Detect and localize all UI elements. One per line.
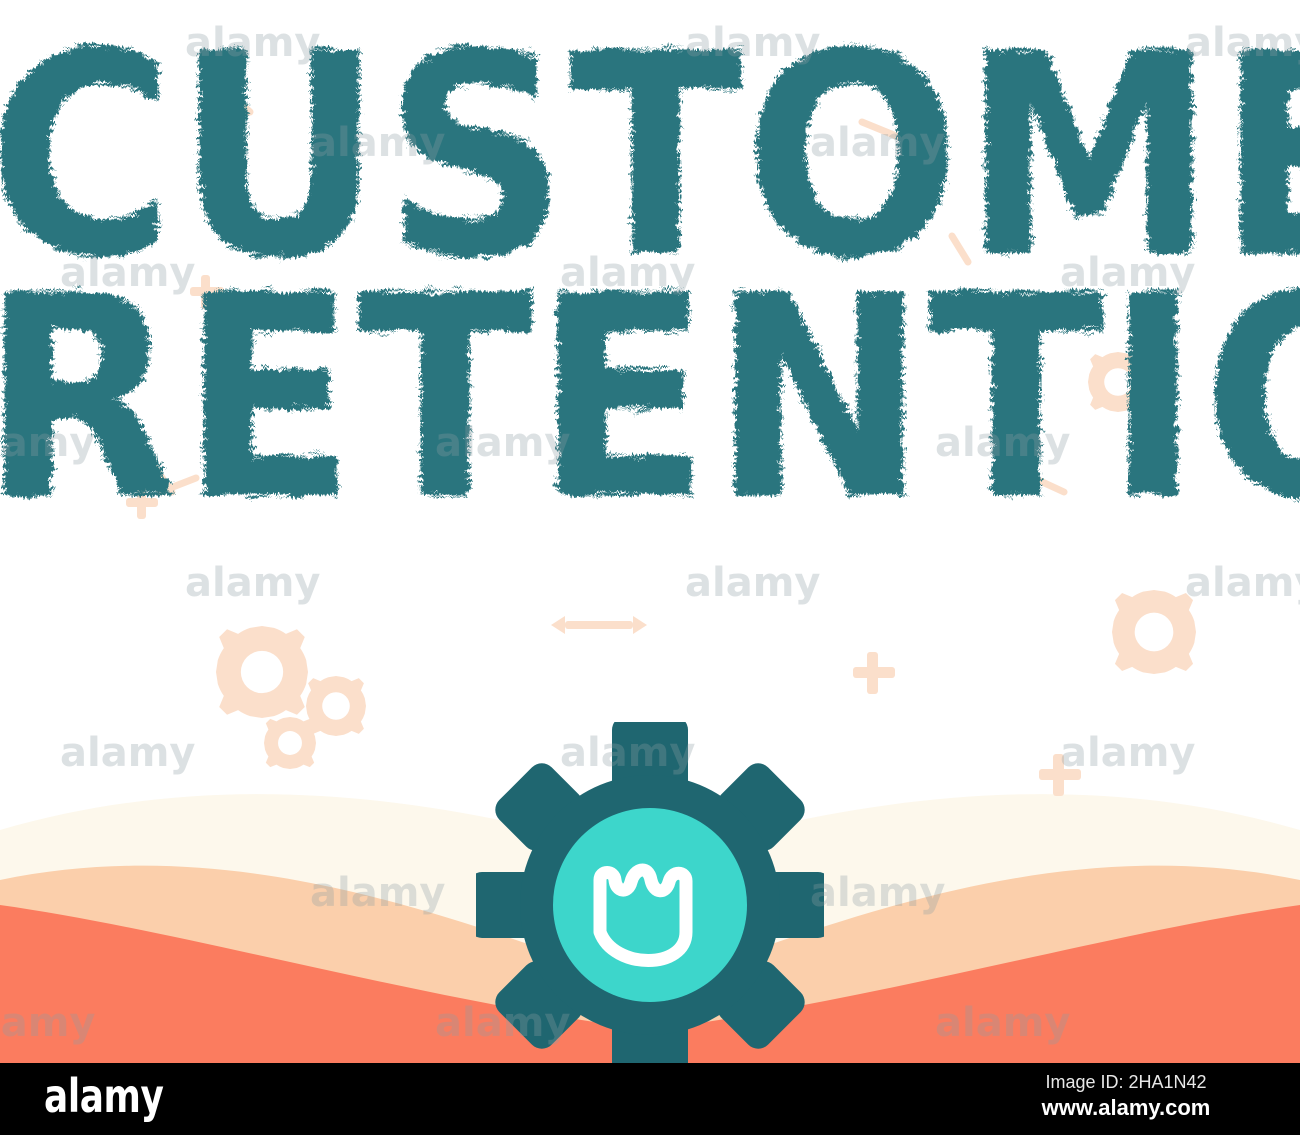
decor-plus-signs [126,275,1081,796]
alamy-logo: alamy [44,1069,164,1123]
alamy-url: www.alamy.com [996,1094,1256,1123]
decor-line-right-mid [952,236,968,262]
decor-lines [144,92,1064,492]
decor-gear-right-lower [1112,590,1196,674]
gear-with-crown-icon [476,722,824,1063]
decor-gear-large-left [216,626,308,718]
decor-line-center [1012,468,1064,492]
gear-inner-circle [553,808,747,1002]
decor-gear-medium-left [306,676,366,736]
image-id-label: Image ID: 2HA1N42 [996,1071,1256,1094]
decor-plus-upper [853,652,895,694]
decor-plus-lowerleft [126,487,158,519]
decor-plus-left [190,275,224,309]
decor-gears [216,352,1196,769]
alamy-footer-bar: alamy Image ID: 2HA1N42 www.alamy.com [0,1063,1300,1135]
footer-credit-block: Image ID: 2HA1N42 www.alamy.com [996,1071,1256,1123]
decor-line-topright [862,122,906,140]
decor-line-topleft [228,92,250,112]
decor-arrow-double [551,616,647,634]
artboard: CUSTOMER RETENTION [0,0,1300,1063]
screenshot-root: CUSTOMER RETENTION [0,0,1300,1135]
decor-plus-lower [1039,754,1081,796]
decor-gear-small-left [264,717,316,769]
decor-gear-right-upper [1088,352,1148,412]
